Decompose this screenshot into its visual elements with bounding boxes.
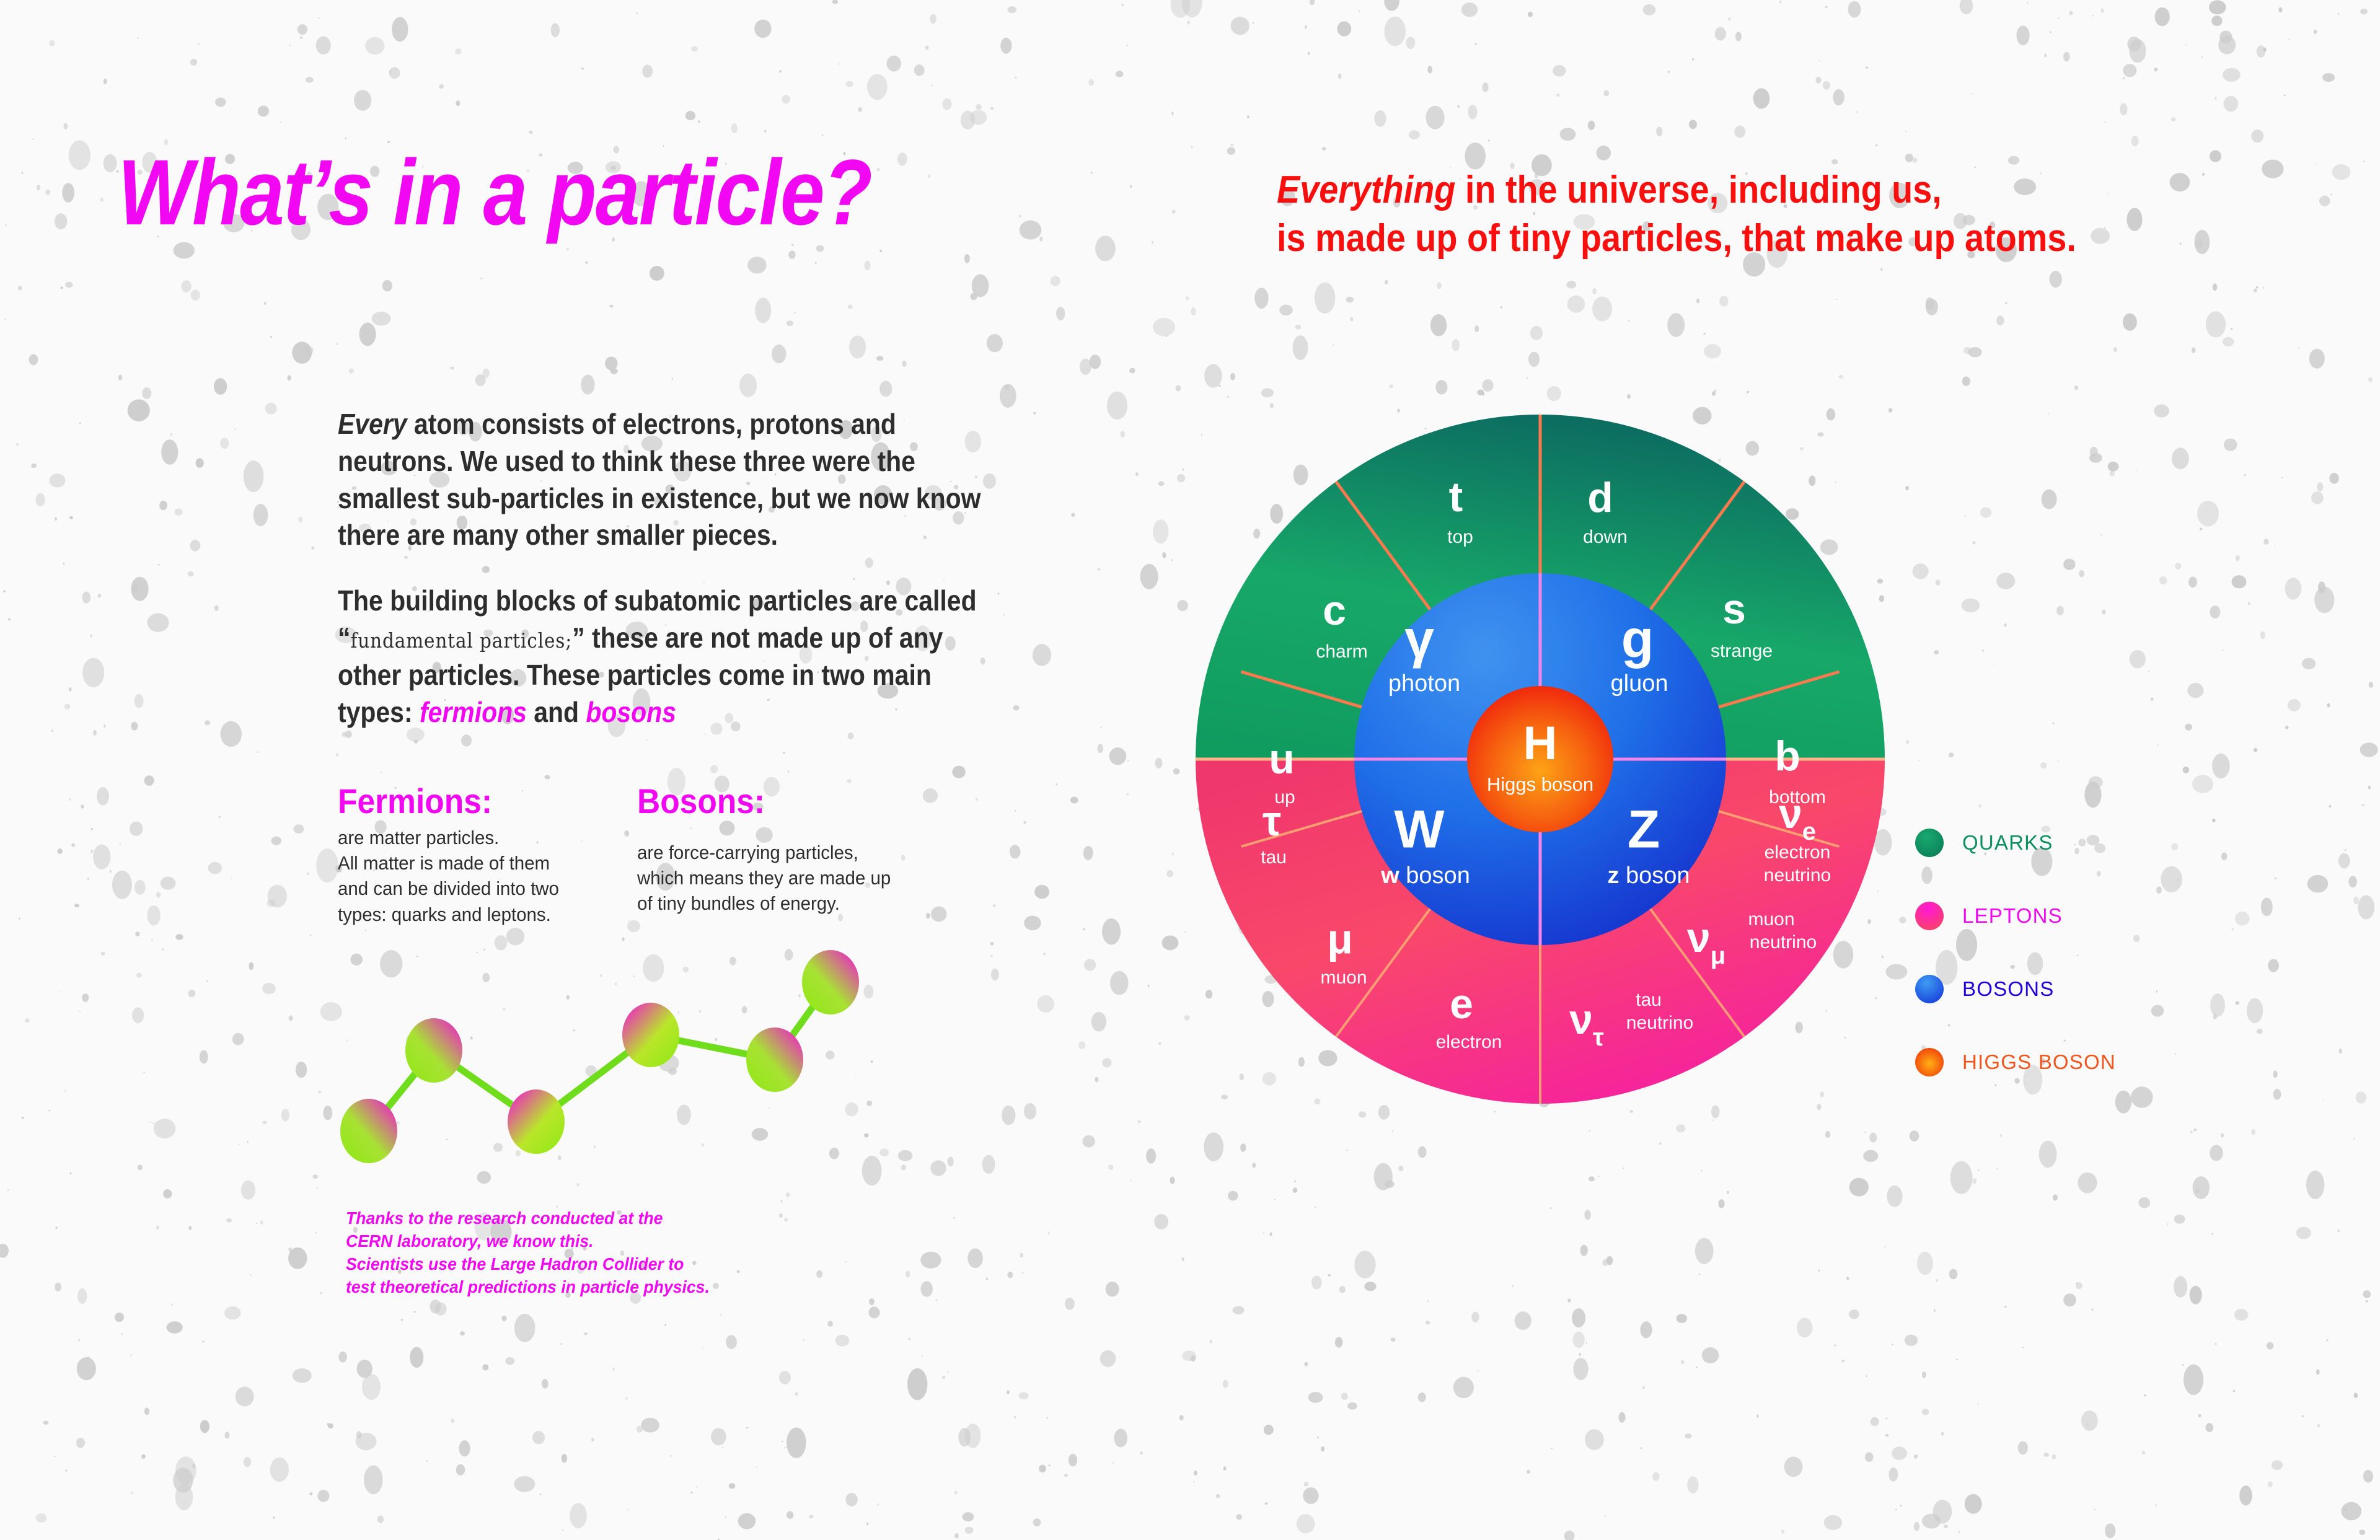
higgs-name: Higgs boson	[1487, 773, 1593, 795]
boson-name-photon: photon	[1388, 671, 1460, 697]
paragraph-1-emphasis: Every	[338, 408, 407, 440]
quark-symbol-charm: c	[1323, 587, 1346, 634]
lepton-name-muon-neutrino-line1: muon	[1748, 909, 1794, 930]
credit-text: Thanks to the research conducted at the …	[346, 1207, 793, 1299]
boson-symbol-photon: γ	[1404, 610, 1434, 669]
fermions-heading: Fermions:	[338, 784, 606, 819]
quark-name-down: down	[1583, 527, 1628, 547]
boson-name-z: z boson	[1607, 863, 1690, 889]
quark-symbol-down: d	[1587, 474, 1613, 521]
lepton-name-electron-neutrino-line1: electron	[1765, 842, 1831, 863]
legend: QUARKS LEPTONS BOSONS HIGGS BOSON	[1915, 830, 2116, 1123]
body-copy: Every atom consists of electrons, proton…	[338, 406, 989, 759]
boson-symbol-w: W	[1394, 800, 1445, 860]
legend-label-quarks: QUARKS	[1962, 831, 2053, 855]
fermions-column: Fermions: are matter particles. All matt…	[338, 784, 629, 927]
quark-name-top: top	[1447, 527, 1473, 547]
lepton-symbol-tau: τ	[1263, 798, 1281, 845]
lepton-name-muon-neutrino-line2: neutrino	[1750, 932, 1817, 953]
lepton-name-tau-neutrino-line1: tau	[1636, 990, 1662, 1010]
legend-label-bosons: BOSONS	[1962, 977, 2054, 1001]
bosons-heading: Bosons:	[637, 784, 911, 819]
lede-line2: is made up of tiny particles, that make …	[1277, 217, 2076, 260]
chain-nodes	[340, 950, 859, 1163]
paragraph-1-rest: atom consists of electrons, protons and …	[338, 408, 981, 551]
legend-swatch-bosons	[1915, 975, 1944, 1003]
boson-symbol-z: Z	[1628, 800, 1660, 860]
bosons-description: are force-carrying particles, which mean…	[637, 840, 920, 917]
boson-symbol-gluon: g	[1621, 610, 1654, 669]
legend-swatch-quarks	[1915, 829, 1944, 857]
legend-item-higgs-boson[interactable]: HIGGS BOSON	[1915, 1050, 2116, 1075]
legend-item-bosons[interactable]: BOSONS	[1915, 977, 2116, 1001]
paragraph-1: Every atom consists of electrons, proton…	[338, 406, 989, 554]
lepton-name-electron-neutrino-line2: neutrino	[1764, 865, 1831, 886]
quark-name-strange: strange	[1711, 641, 1773, 661]
lepton-name-muon: muon	[1320, 967, 1367, 988]
lepton-name-electron: electron	[1436, 1032, 1502, 1052]
particle-wheel-diagram: u up c charm t top d down s strange b bo…	[1178, 397, 1903, 1122]
legend-item-quarks[interactable]: QUARKS	[1915, 830, 2116, 855]
boson-name-gluon: gluon	[1611, 671, 1668, 697]
bosons-keyword: bosons	[586, 696, 676, 728]
lepton-name-tau-neutrino-line2: neutrino	[1626, 1013, 1693, 1033]
lede-line1-rest: in the universe, including us,	[1455, 169, 1941, 211]
quark-symbol-up: u	[1269, 736, 1295, 783]
legend-item-leptons[interactable]: LEPTONS	[1915, 904, 2116, 928]
page-title: What’s in a particle?	[118, 144, 1077, 242]
higgs-symbol: H	[1523, 717, 1558, 770]
quark-symbol-strange: s	[1722, 586, 1746, 633]
legend-swatch-leptons	[1915, 902, 1944, 930]
lepton-symbol-muon: μ	[1327, 915, 1353, 962]
legend-swatch-higgs-boson	[1915, 1048, 1944, 1076]
lede-text: Everything in the universe, including us…	[1277, 166, 2180, 263]
legend-label-leptons: LEPTONS	[1962, 904, 2063, 928]
paragraph-2-and: and	[527, 696, 586, 728]
fermions-keyword: fermions	[420, 696, 527, 728]
lepton-symbol-electron: e	[1450, 980, 1473, 1027]
fundamental-particles-term: fundamental particles;	[350, 628, 572, 653]
boson-name-w: w boson	[1380, 863, 1470, 889]
fermions-description: are matter particles. All matter is made…	[338, 825, 615, 927]
quark-name-charm: charm	[1316, 641, 1367, 662]
bosons-column: Bosons: are force-carrying particles, wh…	[637, 784, 935, 917]
lede-emphasis: Everything	[1277, 169, 1455, 211]
legend-label-higgs-boson: HIGGS BOSON	[1962, 1050, 2116, 1074]
quark-symbol-bottom: b	[1774, 733, 1800, 780]
quark-symbol-top: t	[1449, 473, 1463, 521]
particle-chain-illustration	[322, 917, 880, 1177]
paragraph-2: The building blocks of subatomic particl…	[338, 583, 989, 731]
lepton-name-tau: tau	[1261, 847, 1287, 868]
